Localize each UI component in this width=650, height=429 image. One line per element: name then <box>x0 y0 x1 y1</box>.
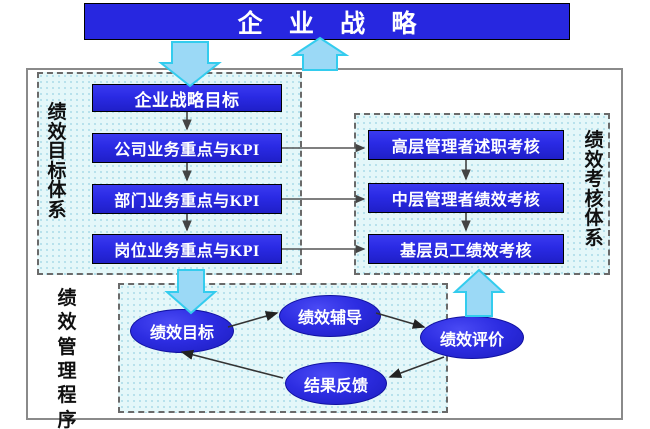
vlabel-char: 体 <box>583 209 605 229</box>
vlabel-char: 体 <box>46 181 68 201</box>
box-label: 中层管理者绩效考核 <box>392 186 541 210</box>
vlabel-char: 绩 <box>46 103 68 123</box>
node-performance-evaluation[interactable]: 绩效评价 <box>420 316 524 359</box>
vlabel-char: 绩 <box>583 131 605 151</box>
vlabel-char: 效 <box>46 123 68 143</box>
banner-title: 企 业 战 略 <box>228 4 427 40</box>
vlabel-char: 系 <box>46 201 68 221</box>
label-performance-management-process: 绩 效 管 理 程 序 <box>56 287 78 429</box>
node-label: 结果反馈 <box>304 372 368 396</box>
box-enterprise-strategy-goal[interactable]: 企业战略目标 <box>92 84 282 112</box>
node-result-feedback[interactable]: 结果反馈 <box>285 362 387 405</box>
vlabel-char: 标 <box>46 162 68 182</box>
box-label: 岗位业务重点与KPI <box>114 237 259 261</box>
box-position-business-focus-kpi[interactable]: 岗位业务重点与KPI <box>92 234 282 264</box>
node-label: 绩效目标 <box>150 319 214 343</box>
box-label: 高层管理者述职考核 <box>392 133 541 157</box>
box-label: 部门业务重点与KPI <box>114 187 259 211</box>
node-performance-coaching[interactable]: 绩效辅导 <box>279 295 381 337</box>
vlabel-char: 效 <box>56 311 78 335</box>
block-arrow-assessment-to-strategy <box>294 38 346 70</box>
vlabel-char: 效 <box>583 151 605 171</box>
diagram-canvas: 企 业 战 略 绩 效 目 标 体 系 绩 效 考 核 体 系 绩 效 管 理 … <box>0 0 650 429</box>
vlabel-char: 理 <box>56 360 78 384</box>
vlabel-char: 系 <box>583 229 605 249</box>
vlabel-char: 核 <box>583 190 605 210</box>
box-middle-manager-performance-assessment[interactable]: 中层管理者绩效考核 <box>368 183 564 213</box>
label-performance-goal-system: 绩 效 目 标 体 系 <box>46 103 68 220</box>
vlabel-char: 考 <box>583 170 605 190</box>
node-label: 绩效辅导 <box>298 304 362 328</box>
vlabel-char: 管 <box>56 336 78 360</box>
vlabel-char: 程 <box>56 384 78 408</box>
vlabel-char: 序 <box>56 409 78 429</box>
box-label: 企业战略目标 <box>135 86 240 111</box>
box-department-business-focus-kpi[interactable]: 部门业务重点与KPI <box>92 184 282 214</box>
node-label: 绩效评价 <box>440 326 504 350</box>
node-performance-goal[interactable]: 绩效目标 <box>130 309 234 353</box>
label-performance-assessment-system: 绩 效 考 核 体 系 <box>583 131 605 248</box>
box-label: 公司业务重点与KPI <box>114 136 259 160</box>
box-frontline-employee-performance-assessment[interactable]: 基层员工绩效考核 <box>368 234 564 264</box>
banner-enterprise-strategy: 企 业 战 略 <box>84 3 570 40</box>
box-label: 基层员工绩效考核 <box>400 237 532 261</box>
box-company-business-focus-kpi[interactable]: 公司业务重点与KPI <box>92 133 282 163</box>
vlabel-char: 绩 <box>56 287 78 311</box>
vlabel-char: 目 <box>46 142 68 162</box>
box-senior-manager-report-assessment[interactable]: 高层管理者述职考核 <box>368 130 564 160</box>
